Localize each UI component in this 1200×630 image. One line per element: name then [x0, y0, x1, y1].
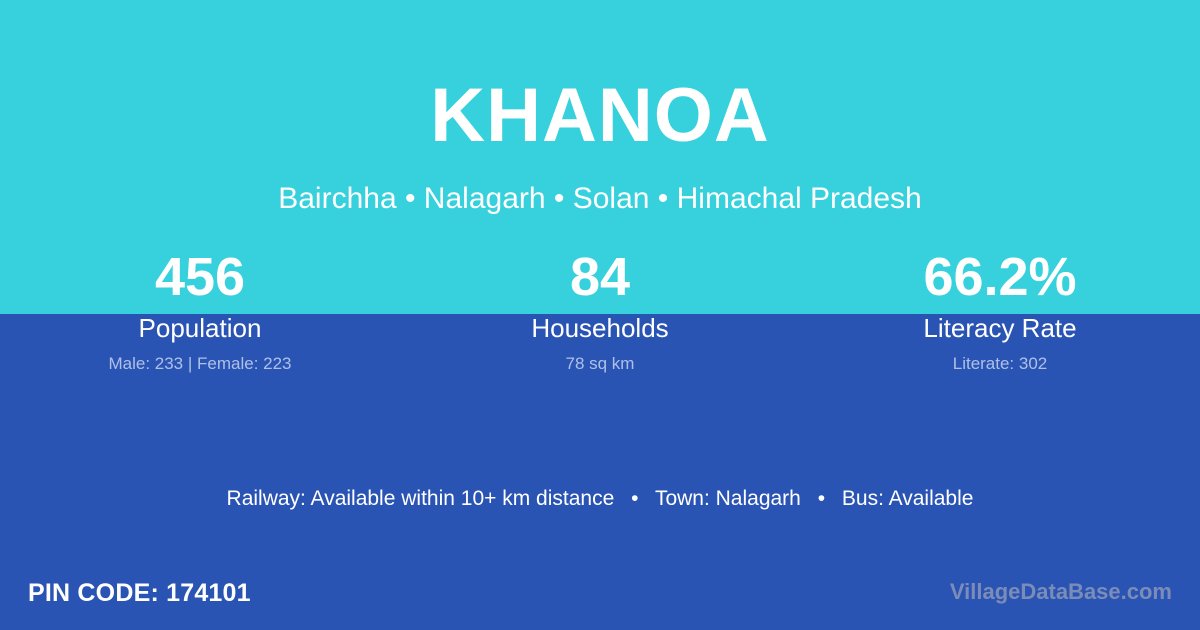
stat-population-label: Population — [0, 312, 400, 344]
amenity-town: Town: Nalagarh — [655, 487, 801, 510]
stat-literacy-rate: 66.2% Literacy Rate Literate: 302 — [800, 246, 1200, 375]
stat-literacy-rate-label: Literacy Rate — [800, 312, 1200, 344]
page-title: KHANOA — [0, 78, 1200, 154]
amenities-line: Railway: Available within 10+ km distanc… — [0, 485, 1200, 513]
stat-literacy-rate-detail: Literate: 302 — [800, 353, 1200, 375]
stat-population-value: 456 — [0, 246, 400, 308]
breadcrumb: Bairchha • Nalagarh • Solan • Himachal P… — [0, 182, 1200, 215]
stat-households-value: 84 — [400, 246, 800, 308]
site-branding: VillageDataBase.com — [950, 578, 1172, 606]
stat-households-label: Households — [400, 312, 800, 344]
amenity-separator-icon: • — [807, 485, 836, 513]
stat-literacy-rate-value: 66.2% — [800, 246, 1200, 308]
amenity-separator-icon: • — [620, 485, 649, 513]
stats-row: 456 Population Male: 233 | Female: 223 8… — [0, 246, 1200, 375]
stat-households: 84 Households 78 sq km — [400, 246, 800, 375]
stat-population: 456 Population Male: 233 | Female: 223 — [0, 246, 400, 375]
stat-households-detail: 78 sq km — [400, 353, 800, 375]
village-info-card: KHANOA Bairchha • Nalagarh • Solan • Him… — [0, 0, 1200, 630]
amenity-railway: Railway: Available within 10+ km distanc… — [227, 487, 615, 510]
stat-population-detail: Male: 233 | Female: 223 — [0, 353, 400, 375]
pin-code: PIN CODE: 174101 — [28, 578, 251, 608]
amenity-bus: Bus: Available — [842, 487, 974, 510]
